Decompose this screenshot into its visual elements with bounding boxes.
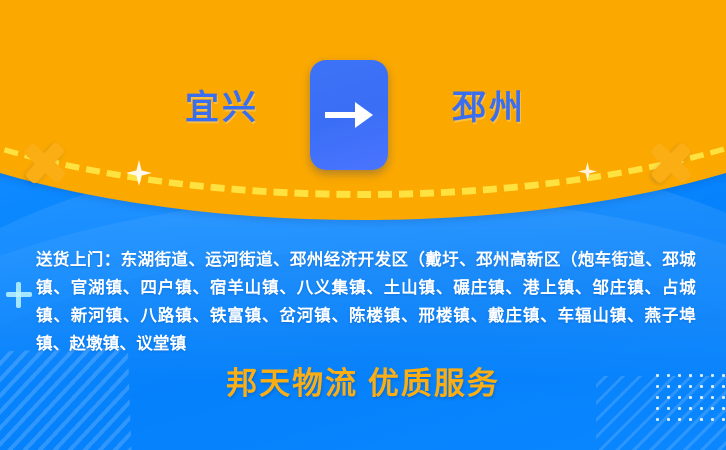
company-slogan: 邦天物流 优质服务 — [0, 368, 726, 399]
right-arrow-icon — [323, 98, 375, 132]
destination-city-label: 邳州 — [452, 92, 526, 126]
origin-city-label: 宜兴 — [185, 92, 259, 126]
logistics-route-banner: 宜兴 邳州 送货上门：东湖街道、运河街道、邳州经济开发区（戴圩、邳州高新区（炮车… — [0, 0, 726, 450]
plus-icon — [16, 282, 21, 308]
delivery-coverage-text: 送货上门：东湖街道、运河街道、邳州经济开发区（戴圩、邳州高新区（炮车街道、邳城镇… — [36, 246, 696, 358]
route-arrow-card — [310, 60, 388, 170]
